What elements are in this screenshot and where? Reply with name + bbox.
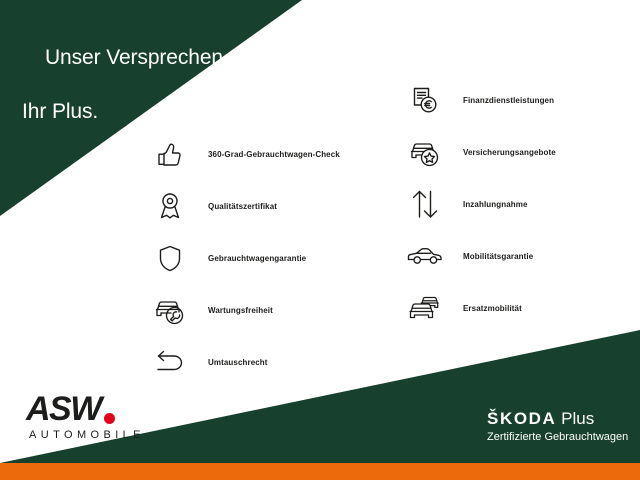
car-star-icon <box>403 130 447 174</box>
skoda-wordmark: ŠKODA Plus <box>487 409 628 429</box>
asw-text: ASW <box>26 392 101 426</box>
feature-label: Wartungsfreiheit <box>208 306 273 315</box>
asw-subtitle: AUTOMOBILE <box>29 429 145 441</box>
feature-list-right: Finanzdienstleistungen Versicherungsange… <box>403 74 556 334</box>
feature-label: Mobilitätsgarantie <box>463 252 533 261</box>
feature-item-mobility-guarantee: Mobilitätsgarantie <box>403 230 556 282</box>
feature-item-quality-certificate: Qualitätszertifikat <box>148 180 340 232</box>
feature-item-maintenance-free: Wartungsfreiheit <box>148 284 340 336</box>
feature-item-replacement-mobility: Ersatzmobilität <box>403 282 556 334</box>
arrows-up-down-icon <box>403 182 447 226</box>
award-rosette-icon <box>148 184 192 228</box>
two-cars-icon <box>403 286 447 330</box>
feature-item-insurance-offers: Versicherungsangebote <box>403 126 556 178</box>
feature-item-used-car-warranty: Gebrauchtwagengarantie <box>148 232 340 284</box>
title-line-2: Ihr Plus. <box>22 98 229 125</box>
skoda-plus-text: Plus <box>556 409 594 428</box>
feature-label: Qualitätszertifikat <box>208 202 277 211</box>
skoda-mark: ŠKODA <box>487 409 556 428</box>
feature-label: Inzahlungnahme <box>463 200 528 209</box>
feature-label: Umtauschrecht <box>208 358 268 367</box>
orange-footer-bar <box>0 463 640 480</box>
feature-label: Finanzdienstleistungen <box>463 96 554 105</box>
asw-red-dot-icon <box>104 413 115 424</box>
feature-label: Gebrauchtwagengarantie <box>208 254 306 263</box>
thumbs-up-icon <box>148 132 192 176</box>
return-arrow-icon <box>148 340 192 384</box>
asw-wordmark: ASW <box>26 392 145 426</box>
feature-item-trade-in: Inzahlungnahme <box>403 178 556 230</box>
skoda-plus-logo: ŠKODA Plus Zertifizierte Gebrauchtwagen <box>487 409 628 444</box>
feature-label: Ersatzmobilität <box>463 304 522 313</box>
document-euro-icon <box>403 78 447 122</box>
feature-label: Versicherungsangebote <box>463 148 556 157</box>
feature-item-right-of-exchange: Umtauschrecht <box>148 336 340 388</box>
title-line-1: Unser Versprechen. <box>45 46 229 69</box>
feature-item-financial-services: Finanzdienstleistungen <box>403 74 556 126</box>
car-side-icon <box>403 234 447 278</box>
car-wrench-icon <box>148 288 192 332</box>
feature-list-left: 360-Grad-Gebrauchtwagen-Check Qualitätsz… <box>148 128 340 388</box>
skoda-tagline: Zertifizierte Gebrauchtwagen <box>487 430 628 444</box>
promo-banner: Unser Versprechen. Ihr Plus. 360-Grad-Ge… <box>0 0 640 480</box>
shield-icon <box>148 236 192 280</box>
feature-item-360-check: 360-Grad-Gebrauchtwagen-Check <box>148 128 340 180</box>
asw-logo: ASW AUTOMOBILE <box>26 392 145 441</box>
feature-label: 360-Grad-Gebrauchtwagen-Check <box>208 150 340 159</box>
